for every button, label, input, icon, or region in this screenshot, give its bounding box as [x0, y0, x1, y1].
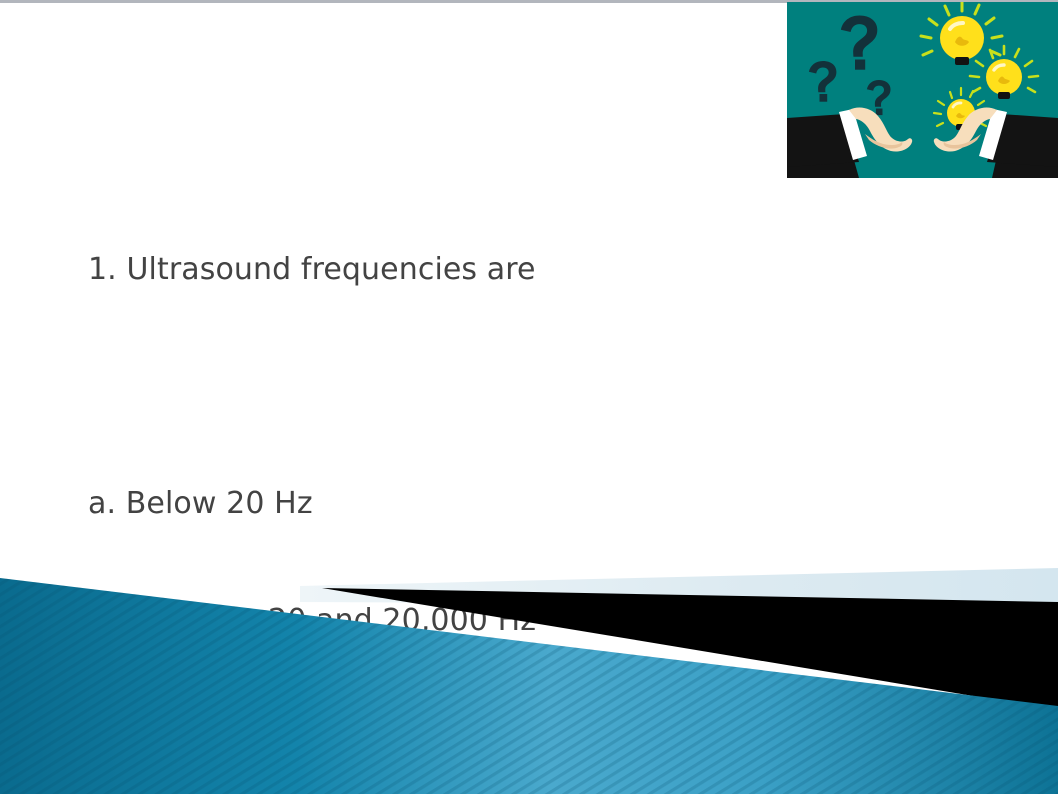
footer-decoration	[0, 540, 1058, 794]
slide-canvas: 1. Ultrasound frequencies are a. Below 2…	[0, 0, 1058, 794]
choice-a: a. Below 20 Hz	[88, 484, 748, 523]
bulb-large-base	[955, 57, 969, 65]
spacer-line-1	[88, 367, 748, 406]
question-line: 1. Ultrasound frequencies are	[88, 250, 748, 289]
questions-and-ideas-image	[787, 2, 1058, 178]
bulb-medium-base	[998, 92, 1010, 99]
